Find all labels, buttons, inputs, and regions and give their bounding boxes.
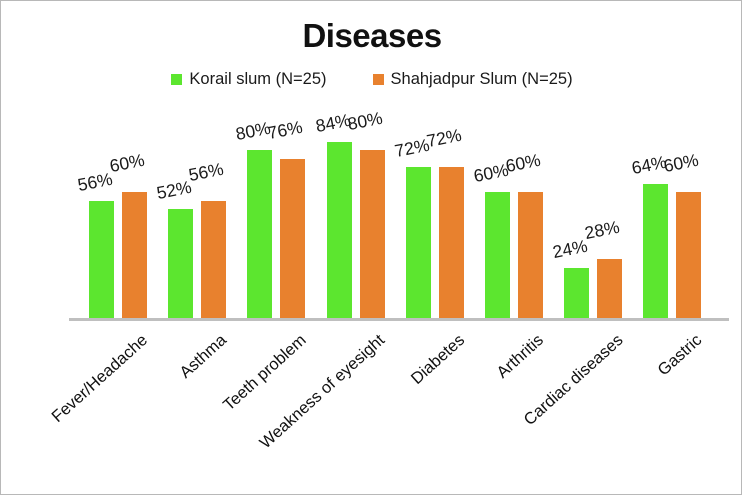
bar-korail-slum[interactable] [89,201,114,318]
plot-area: 56%60%Fever/Headache52%56%Asthma80%76%Te… [1,1,742,495]
category-label: Fever/Headache [48,331,151,427]
bar-value-label-shahjadpur-slum: 60% [504,150,542,177]
bar-value-label-korail-slum: 72% [393,135,431,162]
bar-value-label-shahjadpur-slum: 76% [266,116,304,143]
bar-value-label-shahjadpur-slum: 60% [662,150,700,177]
x-axis-line [69,318,729,321]
bar-korail-slum[interactable] [168,209,193,318]
category-label: Gastric [655,331,707,380]
bar-korail-slum[interactable] [564,268,589,318]
bar-value-label-shahjadpur-slum: 28% [583,217,621,244]
bar-shahjadpur-slum[interactable] [597,259,622,318]
bar-value-label-shahjadpur-slum: 80% [346,108,384,135]
bar-korail-slum[interactable] [406,167,431,318]
bar-korail-slum[interactable] [643,184,668,318]
bar-shahjadpur-slum[interactable] [122,192,147,318]
category-label: Arthritis [493,331,547,383]
bar-shahjadpur-slum[interactable] [518,192,543,318]
chart-container: Diseases Korail slum (N=25) Shahjadpur S… [0,0,742,495]
bar-value-label-korail-slum: 56% [76,168,114,195]
category-label: Asthma [177,331,231,383]
bar-korail-slum[interactable] [327,142,352,318]
bar-value-label-korail-slum: 24% [551,235,589,262]
bar-value-label-shahjadpur-slum: 60% [108,150,146,177]
bar-shahjadpur-slum[interactable] [676,192,701,318]
bar-korail-slum[interactable] [247,150,272,318]
bar-shahjadpur-slum[interactable] [280,159,305,318]
bar-korail-slum[interactable] [485,192,510,318]
bar-shahjadpur-slum[interactable] [360,150,385,318]
bar-shahjadpur-slum[interactable] [439,167,464,318]
bar-value-label-shahjadpur-slum: 72% [425,125,463,152]
category-label: Diabetes [407,331,468,389]
bar-value-label-shahjadpur-slum: 56% [187,158,225,185]
bar-value-label-korail-slum: 52% [155,177,193,204]
bar-shahjadpur-slum[interactable] [201,201,226,318]
